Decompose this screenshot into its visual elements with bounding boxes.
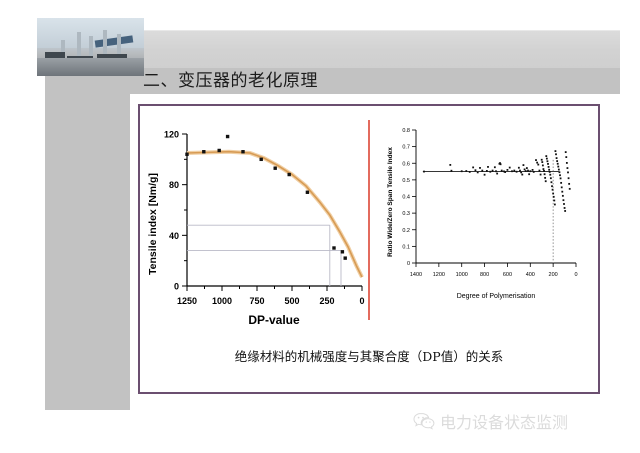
svg-text:200: 200 xyxy=(549,272,558,278)
page-title: 二、变压器的老化原理 xyxy=(143,66,318,91)
svg-text:0.6: 0.6 xyxy=(402,161,410,167)
chart-ratio-wide-zero-span-vs-dp: Ratio Wide/Zero Span Tensile Index 14001… xyxy=(380,120,595,320)
svg-text:0.1: 0.1 xyxy=(402,244,410,250)
svg-text:1000: 1000 xyxy=(456,272,468,278)
svg-text:120: 120 xyxy=(164,130,179,140)
right-chart-xlabel: Degree of Polymerisation xyxy=(457,293,536,300)
svg-text:600: 600 xyxy=(503,272,512,278)
svg-text:0: 0 xyxy=(407,261,410,267)
left-chart-fit-band xyxy=(187,152,362,277)
svg-text:250: 250 xyxy=(319,296,334,306)
right-chart-reference-lines xyxy=(423,160,559,263)
svg-text:0: 0 xyxy=(574,272,577,278)
right-chart-data-points xyxy=(423,150,571,212)
substation-photo xyxy=(37,18,144,76)
svg-text:400: 400 xyxy=(526,272,535,278)
svg-text:40: 40 xyxy=(169,231,179,241)
svg-text:800: 800 xyxy=(480,272,489,278)
svg-text:1000: 1000 xyxy=(212,296,232,306)
left-chart-xlabel: DP-value xyxy=(248,313,300,327)
right-chart-ylabel: Ratio Wide/Zero Span Tensile Index xyxy=(387,147,394,257)
svg-text:0.8: 0.8 xyxy=(402,128,410,134)
svg-text:0.7: 0.7 xyxy=(402,145,410,151)
wechat-icon xyxy=(413,412,435,431)
svg-text:80: 80 xyxy=(169,180,179,190)
chart-tensile-index-vs-dp: Tensile index [Nm/g] 1250100075050025000… xyxy=(142,114,372,332)
svg-text:0: 0 xyxy=(359,296,364,306)
left-chart-fit-curve xyxy=(187,152,362,277)
left-chart-ticks: 12501000750500250004080120 xyxy=(164,130,365,307)
content-panel: Tensile index [Nm/g] 1250100075050025000… xyxy=(138,104,600,394)
left-chart-ylabel: Tensile index [Nm/g] xyxy=(147,173,159,275)
svg-text:0.2: 0.2 xyxy=(402,228,410,234)
svg-text:1400: 1400 xyxy=(410,272,422,278)
left-chart-reference-lines xyxy=(187,225,341,286)
svg-text:500: 500 xyxy=(284,296,299,306)
svg-text:0.4: 0.4 xyxy=(402,195,410,201)
watermark-text: 电力设备状态监测 xyxy=(440,409,568,433)
top-banner-highlight xyxy=(130,30,620,31)
figure-area: Tensile index [Nm/g] 1250100075050025000… xyxy=(140,106,598,336)
svg-text:0.3: 0.3 xyxy=(402,211,410,217)
svg-text:0: 0 xyxy=(174,282,179,292)
svg-text:1250: 1250 xyxy=(177,296,197,306)
figure-caption: 绝缘材料的机械强度与其聚合度（DP值）的关系 xyxy=(140,346,598,365)
slide-canvas: 二、变压器的老化原理 Tensile index [Nm/g] 12501000… xyxy=(0,0,640,453)
left-gray-column xyxy=(45,18,130,410)
photo-ground xyxy=(37,58,144,76)
top-banner xyxy=(130,30,620,68)
chart-divider-line xyxy=(368,120,370,320)
svg-text:1200: 1200 xyxy=(433,272,445,278)
watermark: 电力设备状态监测 xyxy=(413,409,568,433)
right-chart-ticks: 140012001000800600400200000.10.20.30.40.… xyxy=(402,128,577,278)
svg-text:750: 750 xyxy=(249,296,264,306)
svg-text:0.5: 0.5 xyxy=(402,178,410,184)
